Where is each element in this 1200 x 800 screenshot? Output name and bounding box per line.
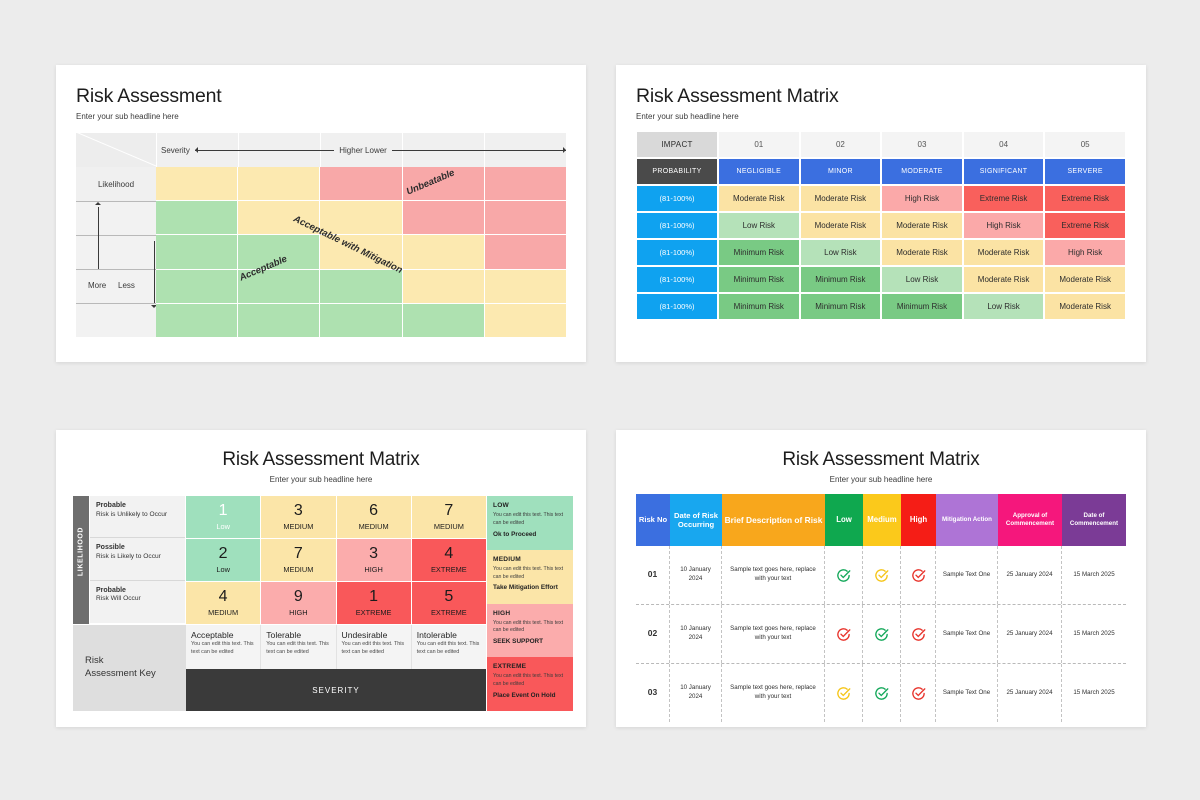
risk-level-cell: Minimum Risk (718, 266, 800, 293)
commencement-date-cell: 15 March 2025 (1062, 546, 1126, 604)
score-cell: 4MEDIUM (186, 582, 260, 624)
high-check-circle-icon[interactable] (901, 605, 936, 663)
low-check-circle-icon[interactable] (825, 664, 863, 722)
likelihood-row-2 (76, 201, 156, 235)
date-of-risk-cell: 10 January 2024 (670, 605, 722, 663)
severity-header-cell: SIGNIFICANT (963, 158, 1045, 185)
severity-cell: IntolerableYou can edit this text. This … (412, 625, 486, 669)
probability-header-row: PROBABILITYNEGLIGIBLEMINORMODERATESIGNIF… (636, 158, 1126, 185)
column-header[interactable]: Brief Description of Risk (722, 494, 825, 546)
heat-cell (403, 304, 484, 337)
heat-cell (156, 167, 237, 200)
heat-cell (238, 304, 319, 337)
score-number: 4 (219, 589, 228, 605)
severity-cell-desc: You can edit this text. This text can be… (266, 641, 330, 656)
high-check-circle-icon[interactable] (901, 664, 936, 722)
probability-range-cell: (81-100%) (636, 266, 718, 293)
legend-action: Take Mitigation Effort (493, 584, 567, 591)
slide-risk-assessment[interactable]: Risk Assessment Enter your sub headline … (56, 65, 586, 362)
severity-cell: TolerableYou can edit this text. This te… (261, 625, 336, 669)
impact-number: 02 (800, 131, 882, 158)
score-cells: 1Low3MEDIUM6MEDIUM7MEDIUM2Low7MEDIUM3HIG… (186, 496, 486, 624)
likelihood-row-title: Possible (96, 544, 125, 551)
corner-diagonal-icon (76, 133, 156, 167)
more-label: More (88, 281, 106, 290)
slide-risk-assessment-matrix-table[interactable]: Risk Assessment Matrix Enter your sub he… (616, 65, 1146, 362)
grid-body: Likelihood More Less (76, 167, 566, 337)
risk-level-cell: High Risk (963, 212, 1045, 239)
legend-title: MEDIUM (493, 556, 567, 563)
heat-cell (320, 167, 401, 200)
approval-date-cell: 25 January 2024 (998, 664, 1062, 722)
slide-header: Risk Assessment Enter your sub headline … (56, 65, 586, 121)
column-header[interactable]: Medium (863, 494, 901, 546)
likelihood-row-title: Probable (96, 587, 126, 594)
legend-item: EXTREMEYou can edit this text. This text… (487, 657, 573, 711)
score-cell: 6MEDIUM (337, 496, 411, 538)
risk-level-cell: Low Risk (963, 293, 1045, 320)
impact-number: 05 (1044, 131, 1126, 158)
score-level: HIGH (364, 565, 382, 574)
likelihood-row-5 (76, 303, 156, 337)
score-level: EXTREME (431, 565, 467, 574)
heat-cell (238, 167, 319, 200)
page-title: Risk Assessment Matrix (616, 449, 1146, 471)
score-number: 9 (294, 589, 303, 605)
severity-cell-desc: You can edit this text. This text can be… (191, 641, 255, 656)
likelihood-row-3 (76, 235, 156, 269)
legend-title: EXTREME (493, 663, 567, 670)
legend-item: LOWYou can edit this text. This text can… (487, 496, 573, 550)
page-title: Risk Assessment (76, 85, 586, 108)
risk-level-cell: Extreme Risk (963, 185, 1045, 212)
score-number: 1 (219, 503, 228, 519)
slide-header: Risk Assessment Matrix Enter your sub he… (616, 65, 1146, 121)
likelihood-row-desc: Risk is Unlikely to Occur (96, 511, 179, 520)
score-cell: 2Low (186, 539, 260, 581)
medium-check-circle-icon[interactable] (863, 605, 901, 663)
severity-descriptions: AcceptableYou can edit this text. This t… (186, 625, 486, 669)
heat-cell (320, 304, 401, 337)
likelihood-label: LIKELIHOOD (78, 516, 85, 588)
score-cell: 7MEDIUM (412, 496, 486, 538)
risk-level-cell: Low Risk (718, 212, 800, 239)
severity-cell-title: Intolerable (417, 630, 481, 640)
table-row: (81-100%)Low RiskModerate RiskModerate R… (636, 212, 1126, 239)
severity-cell: UndesirableYou can edit this text. This … (337, 625, 412, 669)
risk-level-cell: Moderate Risk (963, 239, 1045, 266)
risk-register-table: Risk NoDate of Risk OccurringBrief Descr… (636, 494, 1126, 722)
medium-check-circle-icon[interactable] (863, 664, 901, 722)
severity-header-cell: SERVERE (1044, 158, 1126, 185)
score-level: Low (216, 565, 230, 574)
likelihood-row-desc: Risk is Likely to Occur (96, 553, 179, 562)
likelihood-row-title: Probable (96, 502, 126, 509)
risk-level-cell: Minimum Risk (800, 293, 882, 320)
approval-date-cell: 25 January 2024 (998, 605, 1062, 663)
risk-key-matrix: LIKELIHOOD ProbableRisk is Unlikely to O… (73, 496, 573, 711)
low-check-circle-icon[interactable] (825, 605, 863, 663)
heat-cell (320, 270, 401, 303)
higher-lower-label: Higher Lower (334, 146, 392, 155)
probability-range-cell: (81-100%) (636, 239, 718, 266)
legend-desc: You can edit this text. This text can be… (493, 512, 567, 528)
score-level: MEDIUM (359, 522, 389, 531)
page-subtitle: Enter your sub headline here (56, 475, 586, 484)
probability-range-cell: (81-100%) (636, 293, 718, 320)
table-body: 0110 January 2024Sample text goes here, … (636, 546, 1126, 722)
column-header[interactable]: Risk No (636, 494, 670, 546)
legend-desc: You can edit this text. This text can be… (493, 566, 567, 582)
risk-level-cell: Extreme Risk (1044, 185, 1126, 212)
slide-risk-assessment-key[interactable]: Risk Assessment Matrix Enter your sub he… (56, 430, 586, 727)
heat-cell (156, 270, 237, 303)
table-row[interactable]: 0110 January 2024Sample text goes here, … (636, 546, 1126, 605)
severity-band: SEVERITY (186, 669, 486, 711)
heat-cell (485, 270, 566, 303)
severity-cell-desc: You can edit this text. This text can be… (417, 641, 481, 656)
risk-level-cell: Minimum Risk (718, 239, 800, 266)
score-number: 7 (294, 546, 303, 562)
column-header[interactable]: Mitigation Action (936, 494, 998, 546)
risk-no-cell: 03 (636, 664, 670, 722)
severity-cell-title: Tolerable (266, 630, 330, 640)
severity-arrow-left-icon (195, 150, 334, 151)
severity-header-cell: MODERATE (881, 158, 963, 185)
probability-range-cell: (81-100%) (636, 212, 718, 239)
page-subtitle: Enter your sub headline here (616, 475, 1146, 484)
risk-heat-grid: Severity Higher Lower Likelihood (76, 133, 566, 337)
low-check-circle-icon[interactable] (825, 546, 863, 604)
slide-deck-canvas: Risk Assessment Enter your sub headline … (0, 0, 1200, 800)
likelihood-band: LIKELIHOOD (73, 496, 89, 624)
probability-range-cell: (81-100%) (636, 185, 718, 212)
heat-cell (156, 304, 237, 337)
likelihood-row-label: ProbableRisk Will Occur (90, 581, 185, 623)
risk-level-cell: Moderate Risk (800, 185, 882, 212)
score-number: 1 (369, 589, 378, 605)
approval-date-cell: 25 January 2024 (998, 546, 1062, 604)
page-title: Risk Assessment Matrix (56, 449, 586, 471)
medium-check-circle-icon[interactable] (863, 546, 901, 604)
score-cell: 1Low (186, 496, 260, 538)
legend-title: HIGH (493, 610, 567, 617)
score-number: 3 (369, 546, 378, 562)
score-level: HIGH (289, 608, 307, 617)
high-check-circle-icon[interactable] (901, 546, 936, 604)
likelihood-row-labels: ProbableRisk is Unlikely to OccurPossibl… (90, 496, 185, 624)
risk-no-cell: 01 (636, 546, 670, 604)
score-cell: 1EXTREME (337, 582, 411, 624)
score-level: EXTREME (431, 608, 467, 617)
heat-cell (403, 201, 484, 234)
description-cell: Sample text goes here, replace with your… (722, 605, 825, 663)
heat-cell (403, 270, 484, 303)
slide-header: Risk Assessment Matrix Enter your sub he… (56, 430, 586, 484)
risk-level-cell: Moderate Risk (881, 239, 963, 266)
heat-cell (403, 235, 484, 268)
mitigation-action-cell: Sample Text One (936, 605, 998, 663)
score-level: MEDIUM (208, 608, 238, 617)
impact-number: 01 (718, 131, 800, 158)
less-arrow-down-icon (154, 241, 155, 303)
table-row: (81-100%)Minimum RiskMinimum RiskLow Ris… (636, 266, 1126, 293)
table-row: (81-100%)Minimum RiskMinimum RiskMinimum… (636, 293, 1126, 320)
probability-label: PROBABILITY (636, 158, 718, 185)
score-level: MEDIUM (283, 565, 313, 574)
page-subtitle: Enter your sub headline here (636, 112, 1146, 121)
table-row[interactable]: 0310 January 2024Sample text goes here, … (636, 664, 1126, 722)
mitigation-action-cell: Sample Text One (936, 546, 998, 604)
severity-cell-title: Acceptable (191, 630, 255, 640)
table-row: (81-100%)Minimum RiskLow RiskModerate Ri… (636, 239, 1126, 266)
grid-header-row: Severity Higher Lower (76, 133, 566, 167)
score-level: MEDIUM (283, 522, 313, 531)
score-cell: 7MEDIUM (261, 539, 335, 581)
score-cell: 3HIGH (337, 539, 411, 581)
legend-item: MEDIUMYou can edit this text. This text … (487, 550, 573, 604)
legend-action: Ok to Proceed (493, 531, 567, 538)
risk-level-cell: High Risk (1044, 239, 1126, 266)
severity-label: SEVERITY (312, 686, 360, 695)
heat-cell (156, 235, 237, 268)
description-cell: Sample text goes here, replace with your… (722, 546, 825, 604)
slide-header: Risk Assessment Matrix Enter your sub he… (616, 430, 1146, 484)
likelihood-row-desc: Risk Will Occur (96, 595, 179, 604)
risk-key-text: RiskAssessment Key (85, 655, 156, 681)
commencement-date-cell: 15 March 2025 (1062, 605, 1126, 663)
impact-number: 03 (881, 131, 963, 158)
score-level: EXTREME (356, 608, 392, 617)
severity-cell-title: Undesirable (342, 630, 406, 640)
heat-cell (320, 201, 401, 234)
risk-level-cell: Moderate Risk (1044, 266, 1126, 293)
legend-desc: You can edit this text. This text can be… (493, 620, 567, 636)
severity-header-cell: MINOR (800, 158, 882, 185)
legend-desc: You can edit this text. This text can be… (493, 673, 567, 689)
score-cell: 3MEDIUM (261, 496, 335, 538)
legend-action: SEEK SUPPORT (493, 638, 567, 645)
heat-cell (485, 167, 566, 200)
risk-level-cell: Moderate Risk (881, 212, 963, 239)
likelihood-row-label: ProbableRisk is Unlikely to Occur (90, 496, 185, 538)
date-of-risk-cell: 10 January 2024 (670, 546, 722, 604)
legend-item: HIGHYou can edit this text. This text ca… (487, 604, 573, 658)
severity-cell: AcceptableYou can edit this text. This t… (186, 625, 261, 669)
likelihood-axis: Likelihood More Less (76, 167, 156, 337)
risk-matrix-table: IMPACT0102030405PROBABILITYNEGLIGIBLEMIN… (636, 131, 1126, 320)
score-cell: 9HIGH (261, 582, 335, 624)
score-number: 7 (444, 503, 453, 519)
column-header[interactable]: Approval of Commencement (998, 494, 1062, 546)
score-cell: 5EXTREME (412, 582, 486, 624)
risk-level-cell: Moderate Risk (718, 185, 800, 212)
score-cell: 4EXTREME (412, 539, 486, 581)
more-arrow-up-icon (98, 207, 99, 269)
risk-level-cell: Moderate Risk (1044, 293, 1126, 320)
score-number: 6 (369, 503, 378, 519)
legend-action: Place Event On Hold (493, 692, 567, 699)
score-number: 3 (294, 503, 303, 519)
score-level: MEDIUM (434, 522, 464, 531)
score-number: 4 (444, 546, 453, 562)
heat-cell (485, 235, 566, 268)
severity-axis: Severity Higher Lower (156, 133, 566, 167)
risk-assessment-key-label: RiskAssessment Key (73, 625, 186, 711)
impact-label: IMPACT (636, 131, 718, 158)
table-row: (81-100%)Moderate RiskModerate RiskHigh … (636, 185, 1126, 212)
legend-title: LOW (493, 502, 567, 509)
page-title: Risk Assessment Matrix (636, 85, 1146, 108)
column-header[interactable]: Date of Risk Occurring (670, 494, 722, 546)
date-of-risk-cell: 10 January 2024 (670, 664, 722, 722)
heat-cell (485, 201, 566, 234)
score-number: 2 (219, 546, 228, 562)
commencement-date-cell: 15 March 2025 (1062, 664, 1126, 722)
risk-level-cell: Low Risk (800, 239, 882, 266)
risk-level-cell: Minimum Risk (881, 293, 963, 320)
severity-label: Severity (156, 146, 195, 155)
heat-cell (485, 304, 566, 337)
risk-level-cell: Low Risk (881, 266, 963, 293)
likelihood-header-cell: Likelihood (76, 167, 156, 201)
likelihood-label: Likelihood (98, 180, 134, 189)
impact-header-row: IMPACT0102030405 (636, 131, 1126, 158)
column-header[interactable]: Date of Commencement (1062, 494, 1126, 546)
slide-risk-register[interactable]: Risk Assessment Matrix Enter your sub he… (616, 430, 1146, 727)
likelihood-row-label: PossibleRisk is Likely to Occur (90, 538, 185, 580)
risk-level-cell: Minimum Risk (718, 293, 800, 320)
risk-level-cell: Minimum Risk (800, 266, 882, 293)
column-header[interactable]: Low (825, 494, 863, 546)
less-label: Less (118, 281, 135, 290)
risk-no-cell: 02 (636, 605, 670, 663)
description-cell: Sample text goes here, replace with your… (722, 664, 825, 722)
risk-level-cell: Extreme Risk (1044, 212, 1126, 239)
column-header[interactable]: High (901, 494, 936, 546)
impact-number: 04 (963, 131, 1045, 158)
page-subtitle: Enter your sub headline here (76, 112, 586, 121)
score-number: 5 (444, 589, 453, 605)
severity-header-cell: NEGLIGIBLE (718, 158, 800, 185)
mitigation-action-cell: Sample Text One (936, 664, 998, 722)
risk-level-cell: Moderate Risk (800, 212, 882, 239)
score-level: Low (216, 522, 230, 531)
table-row[interactable]: 0210 January 2024Sample text goes here, … (636, 605, 1126, 664)
risk-level-cell: High Risk (881, 185, 963, 212)
table-header-row: Risk NoDate of Risk OccurringBrief Descr… (636, 494, 1126, 546)
risk-legend: LOWYou can edit this text. This text can… (487, 496, 573, 711)
risk-level-cell: Moderate Risk (963, 266, 1045, 293)
heat-cell (156, 201, 237, 234)
severity-arrow-right-icon (392, 150, 566, 151)
severity-cell-desc: You can edit this text. This text can be… (342, 641, 406, 656)
